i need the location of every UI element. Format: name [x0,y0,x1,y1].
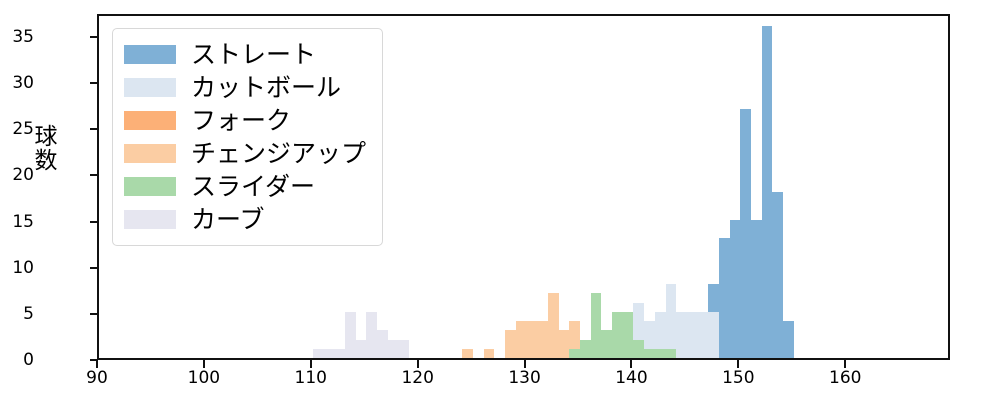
legend-label: フォーク [191,108,291,133]
y-axis: 球数 05101520253035 [0,0,97,400]
histogram-bar [698,312,709,358]
histogram-bar [323,349,334,358]
legend-item[interactable]: スライダー [124,170,366,203]
histogram-bar [505,330,516,358]
legend-label: チェンジアップ [191,141,366,166]
x-axis-tick-label: 100 [188,368,220,388]
histogram-bar [398,340,409,358]
x-axis-tick-mark [310,360,312,368]
histogram-bar [730,220,741,358]
histogram-bar [623,312,634,358]
y-axis-tick-mark [90,221,97,223]
histogram-bar [601,330,612,358]
x-axis-tick-label: 150 [722,368,754,388]
legend-swatch [124,111,176,130]
histogram-bar [537,321,548,358]
legend-swatch [124,144,176,163]
histogram-bar [388,340,399,358]
legend-swatch [124,177,176,196]
x-axis-tick-label: 140 [615,368,647,388]
x-axis-tick-mark [203,360,205,368]
histogram-bar [313,349,324,358]
x-axis-tick-mark [737,360,739,368]
histogram-bar [559,330,570,358]
legend-swatch [124,45,176,64]
histogram-bar [612,312,623,358]
histogram-bar [377,330,388,358]
histogram-bar [762,26,773,358]
histogram-bar [633,340,644,358]
chart-root: 球数 05101520253035 ストレートカットボールフォークチェンジアップ… [0,0,1000,400]
x-axis-tick-mark [630,360,632,368]
histogram-bar [666,349,677,358]
x-axis-tick-label: 110 [295,368,327,388]
histogram-bar [666,284,677,358]
legend-item[interactable]: チェンジアップ [124,137,366,170]
histogram-bar [527,321,538,358]
histogram-bar [366,312,377,358]
histogram-bar [644,349,655,358]
histogram-bar [676,312,687,358]
chart-legend: ストレートカットボールフォークチェンジアップスライダーカーブ [112,28,383,246]
legend-label: スライダー [191,174,315,199]
y-axis-tick-mark [90,128,97,130]
histogram-bar [345,312,356,358]
x-axis-tick-label: 130 [508,368,540,388]
y-axis-tick-label: 25 [12,119,34,139]
legend-label: カーブ [191,207,265,232]
legend-item[interactable]: カーブ [124,203,366,236]
histogram-bar [772,192,783,358]
legend-swatch [124,78,176,97]
y-axis-tick-label: 35 [12,27,34,47]
y-axis-tick-label: 10 [12,258,34,278]
x-axis-tick-label: 160 [829,368,861,388]
y-axis-tick-label: 5 [23,304,34,324]
legend-item[interactable]: ストレート [124,38,366,71]
histogram-bar [569,349,580,358]
histogram-bar [516,321,527,358]
legend-item[interactable]: カットボール [124,71,366,104]
y-axis-tick-mark [90,36,97,38]
histogram-bar [591,293,602,358]
legend-swatch [124,210,176,229]
histogram-bar [740,109,751,358]
histogram-bar [783,321,794,358]
x-axis-tick-mark [844,360,846,368]
histogram-bar [334,349,345,358]
histogram-bar [655,349,666,358]
y-axis-tick-mark [90,174,97,176]
histogram-bar [708,312,719,358]
y-axis-tick-mark [90,82,97,84]
x-axis-tick-mark [96,360,98,368]
y-axis-tick-label: 0 [23,350,34,370]
y-axis-tick-label: 15 [12,212,34,232]
x-axis-tick-label: 90 [86,368,108,388]
histogram-bar [548,293,559,358]
y-axis-tick-mark [90,267,97,269]
histogram-bar [356,340,367,358]
y-axis-tick-label: 20 [12,165,34,185]
histogram-bar [751,220,762,358]
histogram-bar [484,349,495,358]
x-axis-tick-label: 120 [401,368,433,388]
y-axis-tick-mark [90,313,97,315]
histogram-bar [687,312,698,358]
legend-label: ストレート [191,42,316,67]
x-axis-tick-mark [417,360,419,368]
y-axis-tick-label: 30 [12,73,34,93]
histogram-bar [462,349,473,358]
histogram-bar [719,238,730,358]
x-axis-tick-mark [524,360,526,368]
legend-label: カットボール [191,75,341,100]
legend-item[interactable]: フォーク [124,104,366,137]
histogram-bar [580,340,591,358]
